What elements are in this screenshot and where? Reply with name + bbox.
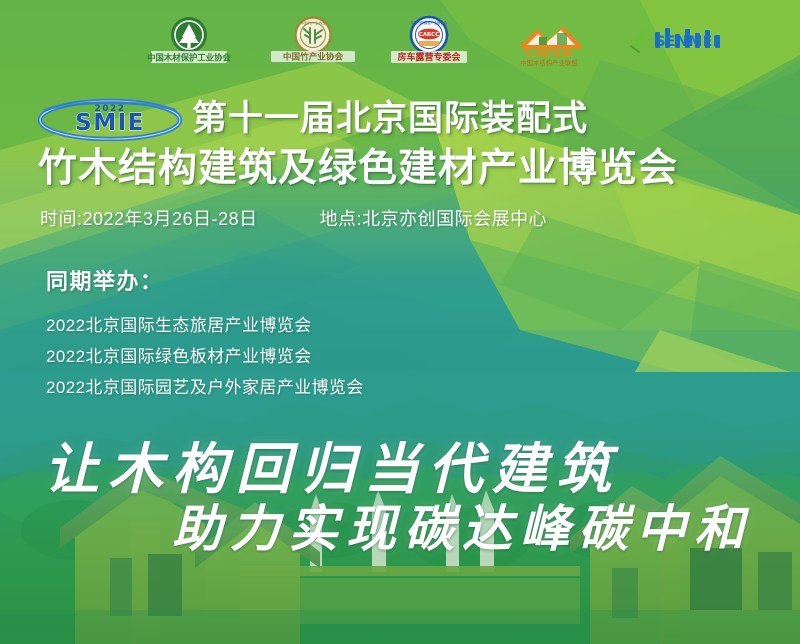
logo-senmei: SENMEI bbox=[623, 15, 735, 67]
logo-caption: 中国木结构产业联盟 bbox=[520, 58, 578, 67]
logo-caption: 中国木材保护工业协会 bbox=[147, 52, 231, 62]
logo-cabcc: CABCC 中国汽车露营产业联合会 房车露营专委会 bbox=[383, 15, 475, 67]
house-cwsa-icon: CWSA 中国木结构产业联盟 bbox=[497, 15, 601, 67]
smie-oval-icon: 2022 SMIE bbox=[36, 97, 184, 141]
logo-bamboo: 中国竹产业协会 中国竹产业协会 bbox=[265, 15, 361, 67]
title-row-1: 2022 SMIE 第十一届北京国际装配式 bbox=[36, 96, 776, 142]
concurrent-events-heading: 同期举办： bbox=[46, 264, 606, 296]
logo-caption: 中国竹产业协会 bbox=[283, 51, 344, 63]
concurrent-event-item: 2022北京国际生态旅居产业博览会 bbox=[46, 310, 606, 341]
logo-cwsa: CWSA 中国木结构产业联盟 bbox=[497, 15, 601, 67]
bamboo-circle-icon: 中国竹产业协会 中国竹产业协会 bbox=[265, 15, 361, 67]
svg-text:中国汽车露营产业联合会: 中国汽车露营产业联合会 bbox=[411, 20, 448, 25]
concurrent-event-item: 2022北京国际绿色板材产业博览会 bbox=[46, 341, 606, 372]
title-block: 2022 SMIE 第十一届北京国际装配式 竹木结构建筑及绿色建材产业博览会 bbox=[36, 96, 776, 194]
logo-acronym: SENMEI bbox=[655, 34, 718, 50]
title-line-2: 竹木结构建筑及绿色建材产业博览会 bbox=[38, 144, 776, 194]
association-logo-bar: 中国木材保护工业协会 中国竹产业协会 中国竹产业协会 bbox=[0, 12, 800, 70]
event-date: 时间:2022年3月26日-28日 bbox=[40, 205, 258, 231]
senmei-leaf-icon: SENMEI bbox=[623, 18, 735, 64]
event-venue: 地点:北京亦创国际会展中心 bbox=[320, 205, 548, 231]
slogan-line-2: 助力实现碳达峰碳中和 bbox=[172, 489, 752, 561]
event-meta-row: 时间:2022年3月26日-28日 地点:北京亦创国际会展中心 bbox=[40, 205, 760, 231]
smie-acronym: SMIE bbox=[75, 110, 145, 136]
logo-cwpia: 中国木材保护工业协会 bbox=[135, 15, 243, 67]
exhibition-poster: 中国木材保护工业协会 中国竹产业协会 中国竹产业协会 bbox=[0, 0, 800, 644]
logo-caption: 房车露营专委会 bbox=[397, 51, 461, 63]
cabcc-circle-icon: CABCC 中国汽车露营产业联合会 房车露营专委会 bbox=[383, 15, 475, 67]
concurrent-events-block: 同期举办： 2022北京国际生态旅居产业博览会 2022北京国际绿色板材产业博览… bbox=[46, 264, 606, 403]
svg-text:中国竹产业协会: 中国竹产业协会 bbox=[300, 21, 326, 26]
tree-shield-icon: 中国木材保护工业协会 bbox=[135, 15, 243, 67]
logo-acronym: CABCC bbox=[419, 32, 439, 38]
title-line-1: 第十一届北京国际装配式 bbox=[192, 97, 588, 141]
concurrent-event-item: 2022北京国际园艺及户外家居产业博览会 bbox=[46, 372, 606, 403]
